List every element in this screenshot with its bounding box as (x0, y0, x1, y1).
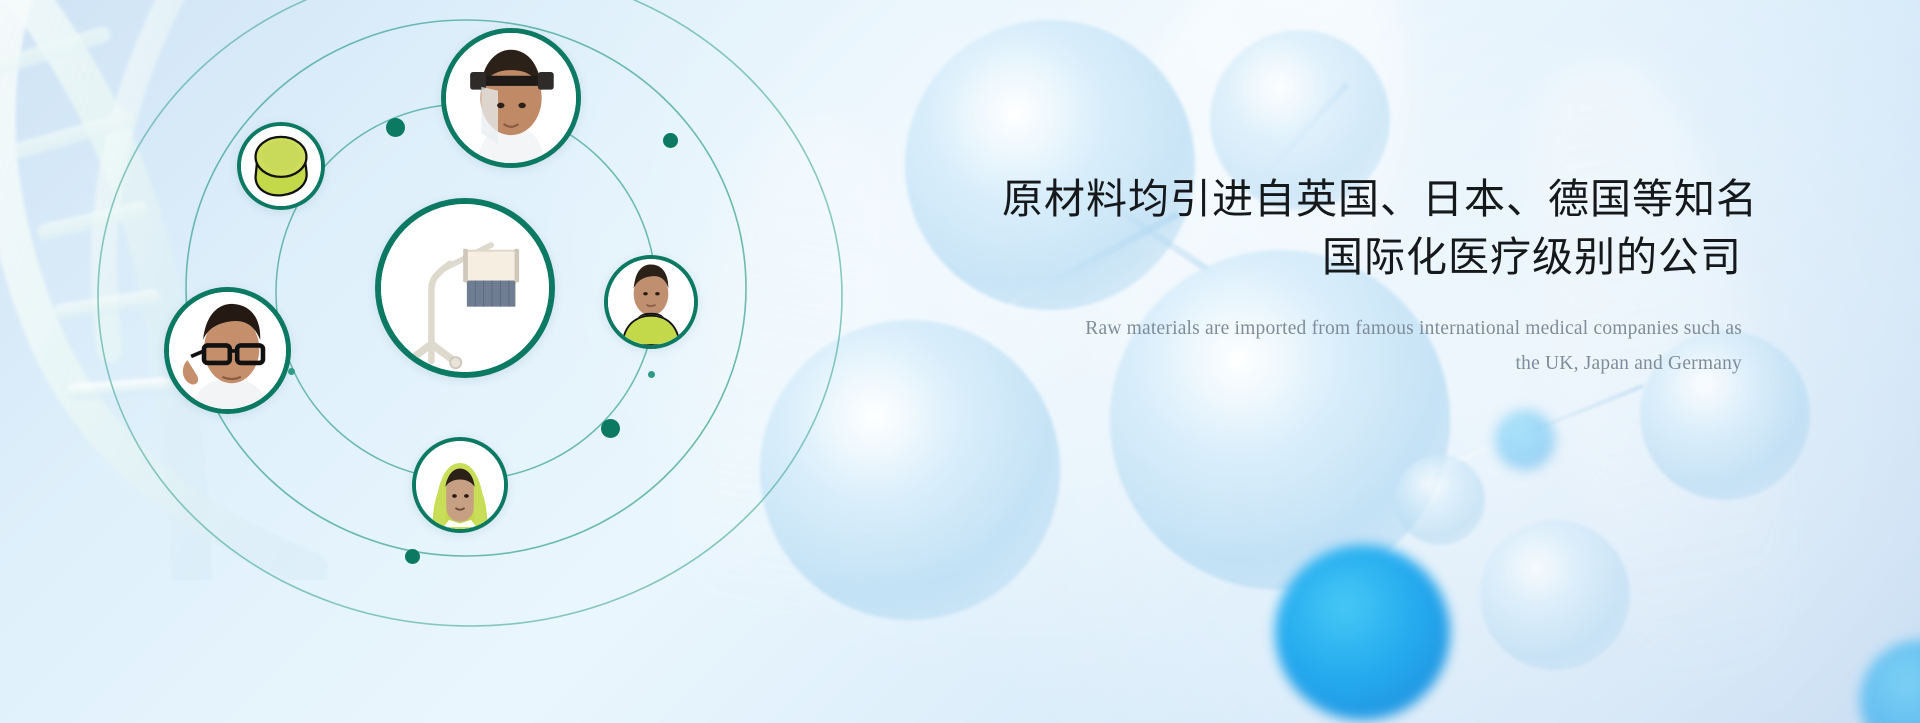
banner-subcopy: Raw materials are imported from famous i… (1002, 312, 1742, 381)
cyan-blob (1860, 640, 1920, 723)
lead-glasses-illustration (169, 292, 286, 409)
orbit-dot (601, 419, 620, 438)
lead-protective-cap-photo[interactable] (237, 122, 325, 210)
banner-headline: 原材料均引进自英国、日本、德国等知名 国际化医疗级别的公司 (1002, 170, 1742, 286)
orbit-dot (405, 549, 420, 564)
lead-hood-illustration (416, 441, 504, 529)
orbit-dot (288, 368, 295, 375)
molecule-bond (1429, 384, 1644, 474)
hero-banner: 原材料均引进自英国、日本、德国等知名 国际化医疗级别的公司 Raw materi… (0, 0, 1920, 723)
lead-cap-illustration (241, 126, 321, 206)
x-ray-protective-head-shield-photo[interactable] (441, 28, 581, 168)
cyan-blob (1275, 545, 1450, 720)
cyan-blob (1495, 410, 1555, 470)
orbit-dot (648, 371, 655, 378)
thyroid-collar-illustration (608, 259, 694, 345)
subcopy-line-1: Raw materials are imported from famous i… (1002, 312, 1742, 347)
molecule-sphere (1395, 455, 1485, 545)
headline-line-2: 国际化医疗级别的公司 (1002, 228, 1742, 286)
lead-protective-hood-photo[interactable] (412, 437, 508, 533)
mobile-screen-illustration (381, 204, 549, 372)
orbit-dot (663, 133, 678, 148)
lead-protective-glasses-photo[interactable] (164, 287, 291, 414)
orbit-dot (386, 118, 405, 137)
thyroid-collar-photo[interactable] (604, 255, 698, 349)
subcopy-line-2: the UK, Japan and Germany (1002, 347, 1742, 382)
mobile-x-ray-protective-screen-photo[interactable] (375, 198, 555, 378)
molecule-sphere (1480, 520, 1630, 670)
banner-copy: 原材料均引进自英国、日本、德国等知名 国际化医疗级别的公司 Raw materi… (1002, 170, 1742, 382)
headline-line-1: 原材料均引进自英国、日本、德国等知名 (1002, 176, 1758, 222)
head-shield-illustration (446, 33, 576, 163)
